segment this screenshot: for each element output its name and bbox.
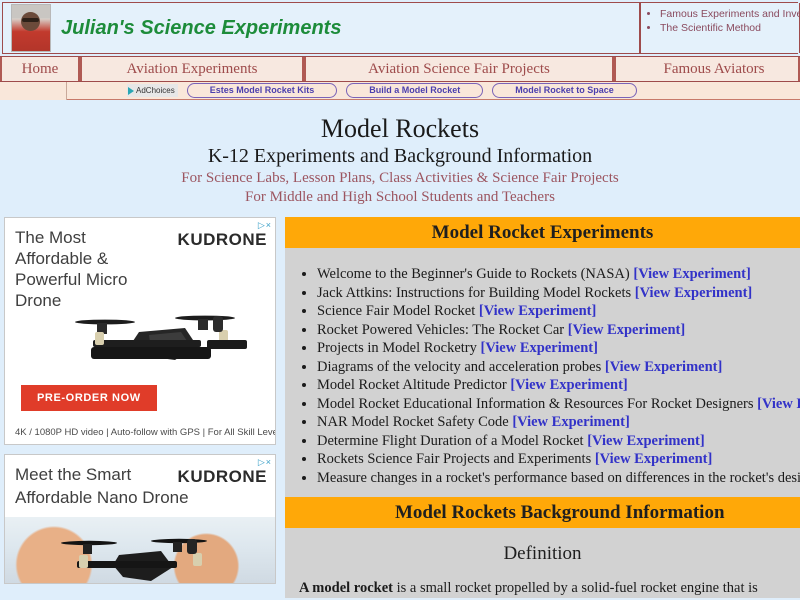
experiment-title: Rocket Powered Vehicles: The Rocket Car [317,322,568,338]
view-experiment-link[interactable]: [View Experiment] [757,396,800,412]
list-item[interactable]: Rockets Science Fair Projects and Experi… [317,450,800,469]
page-root: Julian's Science Experiments Famous Expe… [0,0,800,600]
view-experiment-link[interactable]: [View Experiment] [605,359,722,375]
ad-sidebar: ▷× KUDRONE The Most Affordable & Powerfu… [0,217,285,593]
list-item[interactable]: Jack Attkins: Instructions for Building … [317,284,800,303]
drone-illustration-icon-2 [55,531,245,584]
title-line-2: For Middle and High School Students and … [0,188,800,207]
view-experiment-link[interactable]: [View Experiment] [587,433,704,449]
view-experiment-link[interactable]: [View Experiment] [512,414,629,430]
ad-strip-spacer [0,82,67,100]
title-block: Model Rockets K-12 Experiments and Backg… [0,100,800,207]
avatar [11,4,51,52]
list-item[interactable]: Measure changes in a rocket's performanc… [317,469,800,488]
ad-headline-2: Meet the Smart Affordable Nano Drone [5,455,195,509]
ad-pill-build-a-model-rocket[interactable]: Build a Model Rocket [346,83,483,98]
ad-brand-logo: KUDRONE [178,230,267,250]
experiment-title: Model Rocket Educational Information & R… [317,396,757,412]
list-item[interactable]: NAR Model Rocket Safety Code [View Exper… [317,413,800,432]
ad-links-strip: AdChoices Estes Model Rocket Kits Build … [0,82,800,100]
ad-footer-text: 4K / 1080P HD video | Auto-follow with G… [15,427,276,438]
list-item[interactable]: Model Rocket Altitude Predictor [View Ex… [317,376,800,395]
view-experiment-link[interactable]: [View Experiment] [481,340,598,356]
ad-pill-model-rocket-to-space[interactable]: Model Rocket to Space [492,83,637,98]
adchoices-label: AdChoices [136,85,175,96]
experiment-title: Science Fair Model Rocket [317,303,479,319]
list-item[interactable]: Projects in Model Rocketry [View Experim… [317,339,800,358]
definition-term: A model rocket [299,580,393,596]
adchoices-triangle-icon [128,87,134,95]
list-item[interactable]: Diagrams of the velocity and acceleratio… [317,358,800,377]
ad-cta-button[interactable]: PRE-ORDER NOW [21,385,157,411]
main-content: Model Rocket Experiments Welcome to the … [285,217,800,598]
brand-cell: Julian's Science Experiments [3,3,641,53]
body-columns: ▷× KUDRONE The Most Affordable & Powerfu… [0,217,800,598]
ad-photo-background [5,517,276,584]
experiment-title: Rockets Science Fair Projects and Experi… [317,451,595,467]
view-experiment-link[interactable]: [View Experiment] [635,285,752,301]
definition-heading: Definition [285,528,800,569]
definition-paragraph: A model rocket is a small rocket propell… [285,569,800,598]
definition-body: is a small rocket propelled by a solid-f… [393,580,758,596]
site-header: Julian's Science Experiments Famous Expe… [2,2,798,54]
header-link-scientific-method[interactable]: The Scientific Method [660,21,799,35]
header-links: Famous Experiments and Inventions The Sc… [641,3,800,53]
ad-brand-logo-2: KUDRONE [178,467,267,487]
view-experiment-link[interactable]: [View Experiment] [633,266,750,282]
experiment-title: Welcome to the Beginner's Guide to Rocke… [317,266,633,282]
view-experiment-link[interactable]: [View Experiment] [595,451,712,467]
nav-item-home[interactable]: Home [0,57,80,81]
experiment-title: Diagrams of the velocity and acceleratio… [317,359,605,375]
ad-banner-kudrone-nano[interactable]: ▷× KUDRONE Meet the Smart Affordable Nan… [4,454,276,584]
main-nav: Home Aviation Experiments Aviation Scien… [0,56,800,82]
drone-illustration-icon [67,304,267,374]
list-item[interactable]: Science Fair Model Rocket [View Experime… [317,302,800,321]
view-experiment-link[interactable]: [View Experiment] [479,303,596,319]
page-title: Julian's Science Experiments [61,17,341,40]
title-sub: K-12 Experiments and Background Informat… [0,144,800,169]
ad-banner-kudrone-micro[interactable]: ▷× KUDRONE The Most Affordable & Powerfu… [4,217,276,445]
list-item[interactable]: Determine Flight Duration of a Model Roc… [317,432,800,451]
ad-headline: The Most Affordable & Powerful Micro Dro… [5,218,165,311]
nav-item-famous-aviators[interactable]: Famous Aviators [614,57,800,81]
ad-pill-estes-model-rocket-kits[interactable]: Estes Model Rocket Kits [187,83,338,98]
experiment-title: Model Rocket Altitude Predictor [317,377,510,393]
title-line-1: For Science Labs, Lesson Plans, Class Ac… [0,169,800,188]
experiment-title: Projects in Model Rocketry [317,340,481,356]
view-experiment-link[interactable]: [View Experiment] [510,377,627,393]
experiments-banner: Model Rocket Experiments [285,217,800,248]
experiment-title: NAR Model Rocket Safety Code [317,414,512,430]
experiment-title: Jack Attkins: Instructions for Building … [317,285,635,301]
experiments-pane: Welcome to the Beginner's Guide to Rocke… [285,248,800,598]
view-experiment-link[interactable]: [View Experiment] [568,322,685,338]
adchoices-badge[interactable]: AdChoices [127,84,178,97]
list-item[interactable]: Welcome to the Beginner's Guide to Rocke… [317,265,800,284]
nav-item-aviation-experiments[interactable]: Aviation Experiments [80,57,304,81]
ad-strip-content: AdChoices Estes Model Rocket Kits Build … [67,83,800,98]
experiment-title: Measure changes in a rocket's performanc… [317,470,800,486]
list-item[interactable]: Rocket Powered Vehicles: The Rocket Car … [317,321,800,340]
experiment-list: Welcome to the Beginner's Guide to Rocke… [285,265,800,487]
experiment-title: Determine Flight Duration of a Model Roc… [317,433,587,449]
background-information-banner: Model Rockets Background Information [285,497,800,528]
header-link-famous-experiments[interactable]: Famous Experiments and Inventions [660,7,799,21]
title-main: Model Rockets [0,114,800,144]
list-item[interactable]: Model Rocket Educational Information & R… [317,395,800,414]
nav-item-aviation-science-fair-projects[interactable]: Aviation Science Fair Projects [304,57,614,81]
